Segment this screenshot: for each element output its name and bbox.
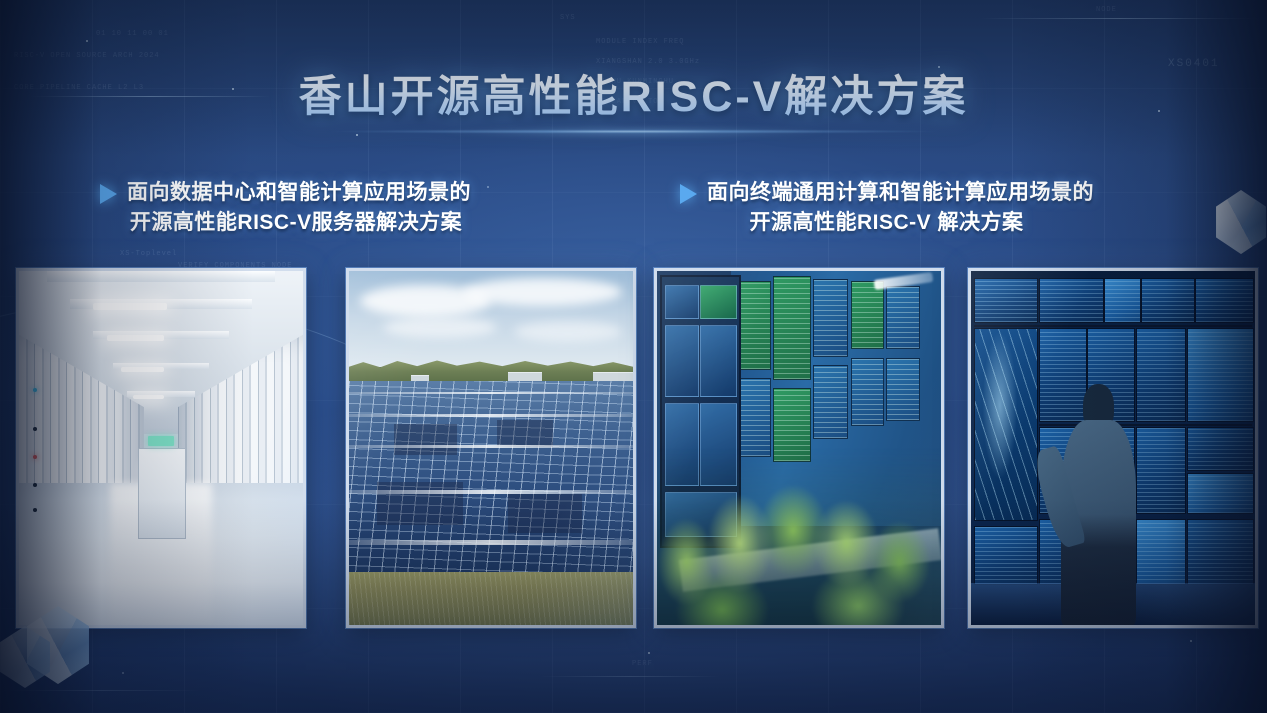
heading-right-line1: 面向终端通用计算和智能计算应用场景的 [707,178,1094,208]
image-panel-operations-center [968,268,1258,628]
headings-row: 面向数据中心和智能计算应用场景的 开源高性能RISC-V服务器解决方案 面向终端… [0,178,1267,248]
play-triangle-icon [680,184,697,204]
page-title: 香山开源高性能RISC-V解决方案 [299,62,969,124]
heading-left-line2: 开源高性能RISC-V服务器解决方案 [127,208,471,238]
title-glow-line [204,130,1064,133]
heading-column-right: 面向终端通用计算和智能计算应用场景的 开源高性能RISC-V 解决方案 [680,178,1180,238]
heading-left-line1: 面向数据中心和智能计算应用场景的 [127,178,471,208]
crystal-gem-icon [0,626,54,688]
image-panel-data-center [16,268,306,628]
image-panel-smart-agriculture [654,268,944,628]
title-container: 香山开源高性能RISC-V解决方案 [0,62,1267,124]
image-panel-solar-farm [346,268,636,628]
play-triangle-icon [100,184,117,204]
heading-column-left: 面向数据中心和智能计算应用场景的 开源高性能RISC-V服务器解决方案 [100,178,570,238]
heading-right-line2: 开源高性能RISC-V 解决方案 [707,208,1094,238]
title-glow-halo [354,124,914,140]
presentation-slide: RISC-V OPEN SOURCE ARCH 2024 CORE PIPELI… [0,0,1267,713]
